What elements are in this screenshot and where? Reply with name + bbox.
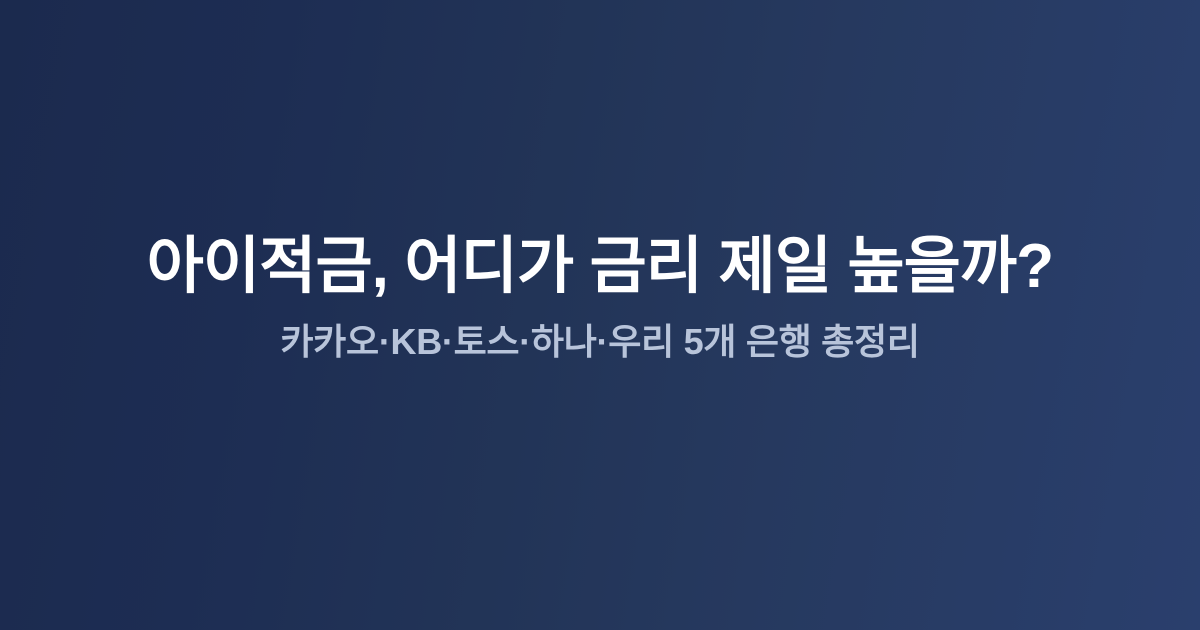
card-title: 아이적금, 어디가 금리 제일 높을까? xyxy=(0,230,1200,303)
card-subtitle: 카카오·KB·토스·하나·우리 5개 은행 총정리 xyxy=(0,319,1200,366)
og-share-card: 아이적금, 어디가 금리 제일 높을까? 카카오·KB·토스·하나·우리 5개 … xyxy=(0,0,1200,630)
card-content-block: 아이적금, 어디가 금리 제일 높을까? 카카오·KB·토스·하나·우리 5개 … xyxy=(0,230,1200,366)
